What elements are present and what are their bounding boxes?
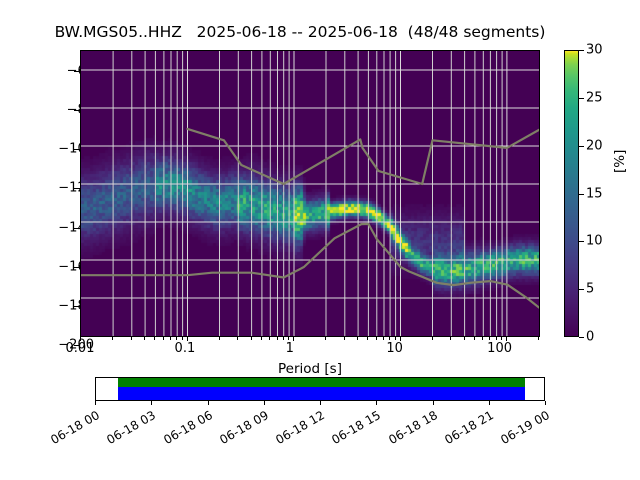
x-tick-label-100: 100 <box>470 341 530 356</box>
colorbar-label-10: 10 <box>586 234 603 249</box>
x-tick-label-10: 10 <box>365 341 425 356</box>
timeline-tick-mark <box>264 401 265 405</box>
timeline-tick-label: 06-19 00 <box>493 408 552 450</box>
x-tick-mark <box>269 337 270 340</box>
colorbar-label-20: 20 <box>586 138 603 153</box>
x-tick-mark <box>482 337 483 340</box>
x-tick-mark <box>450 337 451 340</box>
colorbar-tick <box>579 337 584 338</box>
colorbar-tick <box>579 241 584 242</box>
timeline-tick-mark <box>545 401 546 405</box>
timeline-tick-label: 06-18 06 <box>156 408 215 450</box>
x-tick-label-0p1: 0.1 <box>155 341 215 356</box>
x-tick-mark <box>261 337 262 340</box>
x-tick-mark <box>489 337 490 340</box>
x-tick-mark <box>432 337 433 340</box>
timeline-tick-label: 06-18 15 <box>324 408 383 450</box>
x-tick-mark <box>538 337 539 340</box>
timeline-coverage-bar[interactable] <box>95 377 545 401</box>
x-tick-mark <box>283 337 284 340</box>
colorbar-label-25: 25 <box>586 90 603 105</box>
x-tick-mark <box>170 337 171 340</box>
x-tick-mark <box>376 337 377 340</box>
colorbar-tick <box>579 194 584 195</box>
colorbar-tick <box>579 50 584 51</box>
x-tick-mark <box>325 337 326 340</box>
x-tick-mark <box>131 337 132 340</box>
x-tick-mark <box>389 337 390 340</box>
x-tick-mark <box>219 337 220 340</box>
x-tick-label-0p01: 0.01 <box>50 341 110 356</box>
ppsd-figure: BW.MGS05..HHZ 2025-06-18 -- 2025-06-18 (… <box>0 0 640 480</box>
timeline-green-band <box>118 378 525 387</box>
x-tick-mark <box>357 337 358 340</box>
x-tick-mark <box>496 337 497 340</box>
colorbar-label-15: 15 <box>586 186 603 201</box>
timeline-tick-mark <box>320 401 321 405</box>
colorbar-tick <box>579 289 584 290</box>
x-tick-mark <box>112 337 113 340</box>
x-tick-mark <box>251 337 252 340</box>
ppsd-plot-area[interactable] <box>80 50 540 337</box>
colorbar-tick <box>579 98 584 99</box>
colorbar-tick <box>579 146 584 147</box>
timeline-tick-mark <box>433 401 434 405</box>
timeline-tick-mark <box>489 401 490 405</box>
colorbar-label-30: 30 <box>586 43 603 58</box>
timeline-tick-mark <box>95 401 96 405</box>
x-tick-mark <box>464 337 465 340</box>
page-title: BW.MGS05..HHZ 2025-06-18 -- 2025-06-18 (… <box>0 23 600 41</box>
x-tick-mark <box>144 337 145 340</box>
x-tick-mark <box>474 337 475 340</box>
x-tick-mark <box>344 337 345 340</box>
x-tick-mark <box>163 337 164 340</box>
x-tick-mark <box>383 337 384 340</box>
timeline-tick-label: 06-18 00 <box>43 408 102 450</box>
x-tick-mark <box>395 337 396 340</box>
colorbar-label-0: 0 <box>586 330 594 345</box>
timeline-tick-label: 06-18 09 <box>212 408 271 450</box>
timeline-tick-mark <box>151 401 152 405</box>
timeline-tick-label: 06-18 12 <box>268 408 327 450</box>
x-tick-mark <box>176 337 177 340</box>
x-tick-mark <box>367 337 368 340</box>
x-tick-mark <box>237 337 238 340</box>
x-tick-mark <box>154 337 155 340</box>
timeline-blue-band <box>118 387 525 400</box>
timeline-tick-label: 06-18 21 <box>437 408 496 450</box>
x-tick-mark <box>182 337 183 340</box>
timeline-tick-mark <box>208 401 209 405</box>
noise-model-curves <box>81 51 539 336</box>
x-tick-mark <box>288 337 289 340</box>
x-tick-mark <box>501 337 502 340</box>
timeline-tick-label: 06-18 18 <box>381 408 440 450</box>
x-axis-label: Period [s] <box>80 361 540 377</box>
colorbar-label-5: 5 <box>586 282 594 297</box>
colorbar[interactable] <box>564 50 579 337</box>
x-tick-mark <box>277 337 278 340</box>
x-tick-label-1: 1 <box>260 341 320 356</box>
timeline-tick-label: 06-18 03 <box>99 408 158 450</box>
timeline-tick-mark <box>376 401 377 405</box>
colorbar-axis-label: [%] <box>612 150 628 173</box>
